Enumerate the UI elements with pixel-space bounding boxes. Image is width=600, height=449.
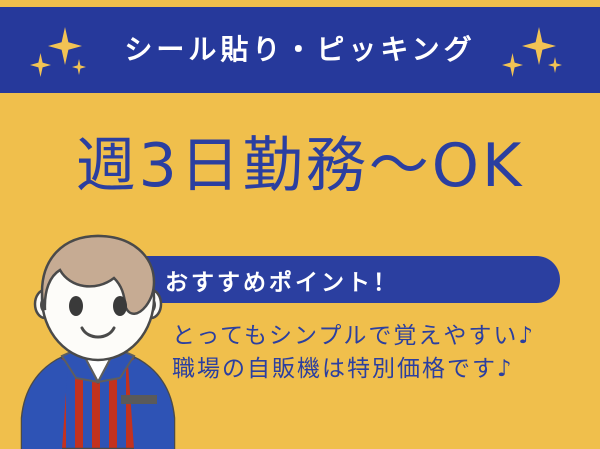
body-line-2: 職場の自販機は特別価格です♪ [172,353,572,386]
main-headline: 週3日勤務〜OK [0,132,600,201]
header-band: シール貼り・ピッキング [0,7,600,93]
sparkle-large-icon [522,27,556,65]
sparkle-large-icon [48,27,82,65]
body-line-1: とってもシンプルで覚えやすい♪ [172,320,572,353]
sparkle-medium-icon [502,53,523,77]
sparkle-medium-icon [30,53,51,77]
job-ad-banner: シール貼り・ピッキング 週3日勤務〜OK おすすめポイント！ とってもシンプルで… [0,0,600,449]
shirt-pocket-detail [121,395,157,404]
sparkle-cluster-right-icon [500,27,572,79]
character-eye-right [113,296,127,316]
sparkle-small-icon [548,57,562,73]
body-copy: とってもシンプルで覚えやすい♪ 職場の自販機は特別価格です♪ [172,320,572,386]
character-eye-left [69,296,83,316]
sparkle-cluster-left-icon [28,27,100,79]
recommend-points-label: おすすめポイント！ [165,256,399,303]
worker-character-illustration [18,232,178,449]
sparkle-small-icon [72,59,86,75]
header-title: シール貼り・ピッキング [124,36,475,64]
